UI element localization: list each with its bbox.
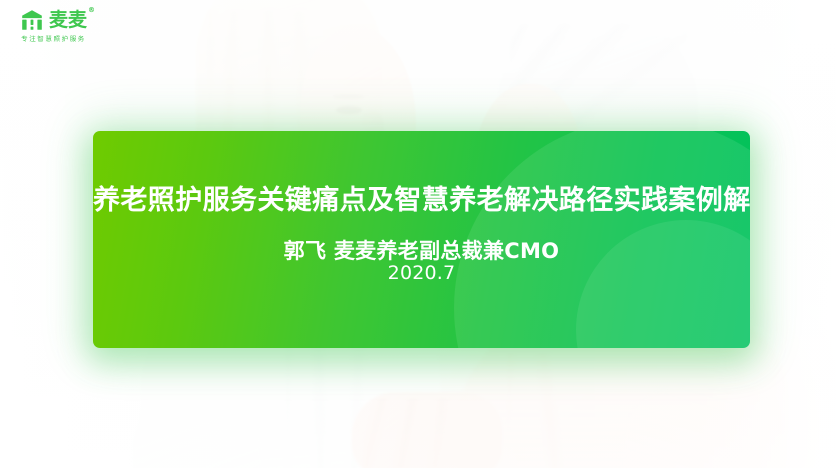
title-banner: 养老照护服务关键痛点及智慧养老解决路径实践案例解析 郭飞 麦麦养老副总裁兼CMO…	[93, 131, 750, 348]
brand-wordmark: 麦麦 ®	[49, 11, 87, 30]
brand-wordmark-text: 麦麦	[49, 9, 87, 31]
title-banner-content: 养老照护服务关键痛点及智慧养老解决路径实践案例解析 郭飞 麦麦养老副总裁兼CMO…	[93, 131, 750, 348]
registered-trademark-icon: ®	[88, 7, 95, 14]
brand-logo: 麦麦 ® 专注智慧照护服务	[20, 9, 87, 43]
presentation-slide: 麦麦 ® 专注智慧照护服务 养老照护服务关键痛点及智慧养老解决路径实践案例解析 …	[0, 0, 836, 468]
brand-logo-row: 麦麦 ®	[20, 9, 87, 31]
slide-title: 养老照护服务关键痛点及智慧养老解决路径实践案例解析	[93, 186, 750, 216]
brand-tagline: 专注智慧照护服务	[21, 33, 86, 42]
presentation-date: 2020.7	[93, 261, 750, 286]
presenter-name-and-role: 郭飞 麦麦养老副总裁兼CMO	[93, 239, 750, 263]
maimai-house-m-logo-icon	[20, 9, 44, 31]
